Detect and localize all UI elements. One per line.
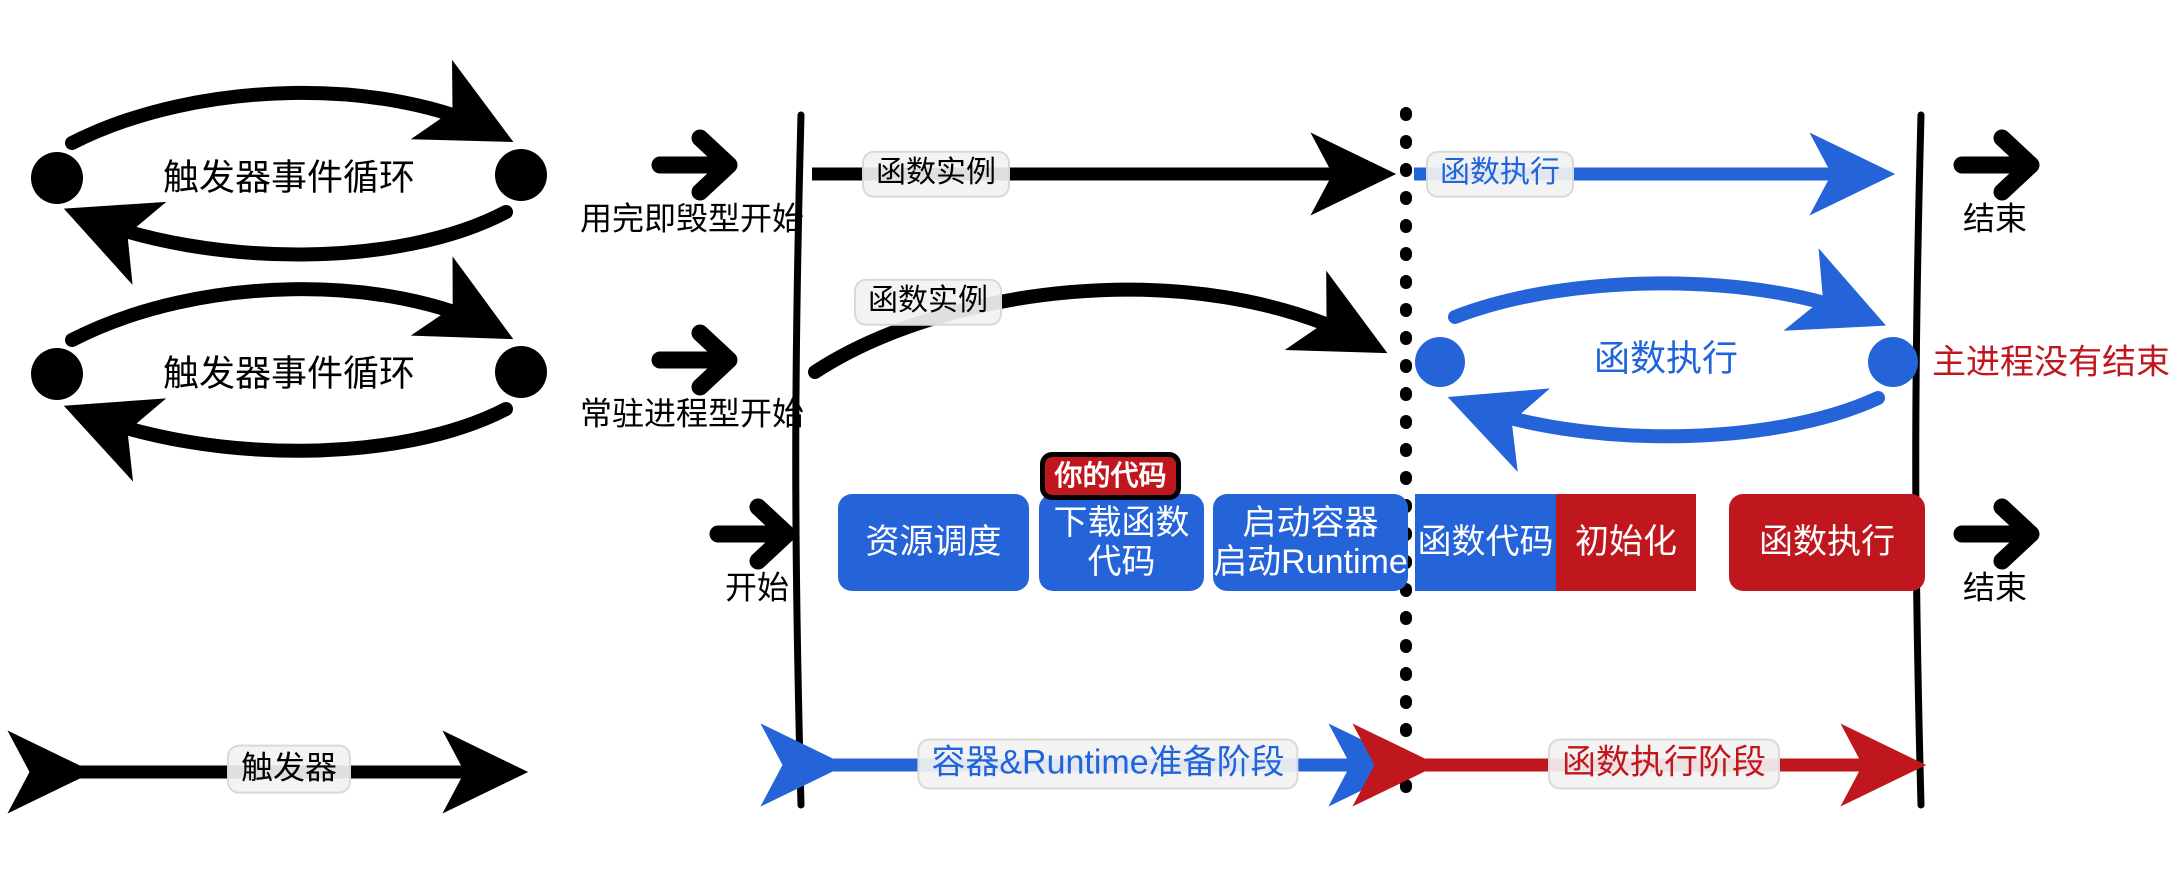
box-download-function-code[interactable]: 下载函数 代码: [1039, 494, 1204, 591]
timeline-right-boundary: [1916, 115, 1921, 805]
box-start-container-runtime-label: 启动容器 启动Runtime: [1213, 504, 1408, 580]
box-resource-scheduling[interactable]: 资源调度: [838, 494, 1029, 591]
box-function-execution[interactable]: 函数执行: [1729, 494, 1925, 591]
loop1-left-node: [31, 152, 83, 204]
box-your-code-label: 你的代码: [1054, 460, 1166, 491]
box-initialization[interactable]: 初始化: [1556, 494, 1696, 591]
loop2-right-node: [495, 346, 547, 398]
start-label-generic: 开始: [725, 570, 789, 607]
box-initialization-label: 初始化: [1575, 523, 1677, 561]
exec-loop-right-node: [1868, 337, 1918, 387]
end-label-top: 结束: [1963, 201, 2027, 238]
start-chevron-3: [718, 507, 787, 561]
phase-label-execute: 函数执行阶段: [1548, 738, 1780, 789]
diagram-canvas: 触发器事件循环 触发器事件循环 触发器 用完即毁型开始 常驻进程型开始 开始 结…: [0, 0, 2182, 880]
row2-exec-label: 函数执行: [1594, 337, 1738, 378]
trigger-loop-label-2: 触发器事件循环: [163, 352, 415, 393]
trigger-label: 触发器: [227, 745, 351, 794]
start-label-ephemeral: 用完即毁型开始: [580, 201, 804, 238]
exec-loop-bottom-arrow: [1466, 398, 1878, 436]
start-chevron-2: [660, 333, 729, 387]
loop1-right-node: [495, 149, 547, 201]
box-your-code[interactable]: 你的代码: [1040, 452, 1181, 500]
exec-loop-left-node: [1415, 337, 1465, 387]
box-resource-scheduling-label: 资源调度: [866, 523, 1002, 561]
trigger-loop-label-1: 触发器事件循环: [163, 156, 415, 197]
row1-instance-label: 函数实例: [862, 151, 1010, 198]
loop2-bottom-arrow: [82, 409, 506, 451]
box-function-execution-label: 函数执行: [1759, 523, 1895, 561]
exec-loop-top-arrow: [1455, 283, 1868, 318]
end-chevron-2: [1962, 507, 2031, 561]
row2-instance-label: 函数实例: [854, 279, 1002, 326]
phase-label-prepare: 容器&Runtime准备阶段: [917, 738, 1298, 789]
loop2-top-arrow: [72, 289, 496, 340]
loop1-top-arrow: [72, 93, 496, 143]
row1-exec-label: 函数执行: [1426, 151, 1574, 198]
box-start-container-runtime[interactable]: 启动容器 启动Runtime: [1213, 494, 1408, 591]
box-function-code[interactable]: 函数代码: [1415, 494, 1556, 591]
end-chevron-1: [1962, 138, 2031, 192]
box-function-code-label: 函数代码: [1418, 523, 1554, 561]
loop1-bottom-arrow: [82, 212, 506, 255]
end-label-main-process: 主进程没有结束: [1932, 343, 2170, 382]
loop2-left-node: [31, 348, 83, 400]
box-download-function-code-label: 下载函数 代码: [1054, 504, 1190, 580]
start-chevron-1: [660, 138, 729, 192]
start-label-resident: 常驻进程型开始: [580, 396, 804, 433]
end-label-bottom: 结束: [1963, 570, 2027, 607]
